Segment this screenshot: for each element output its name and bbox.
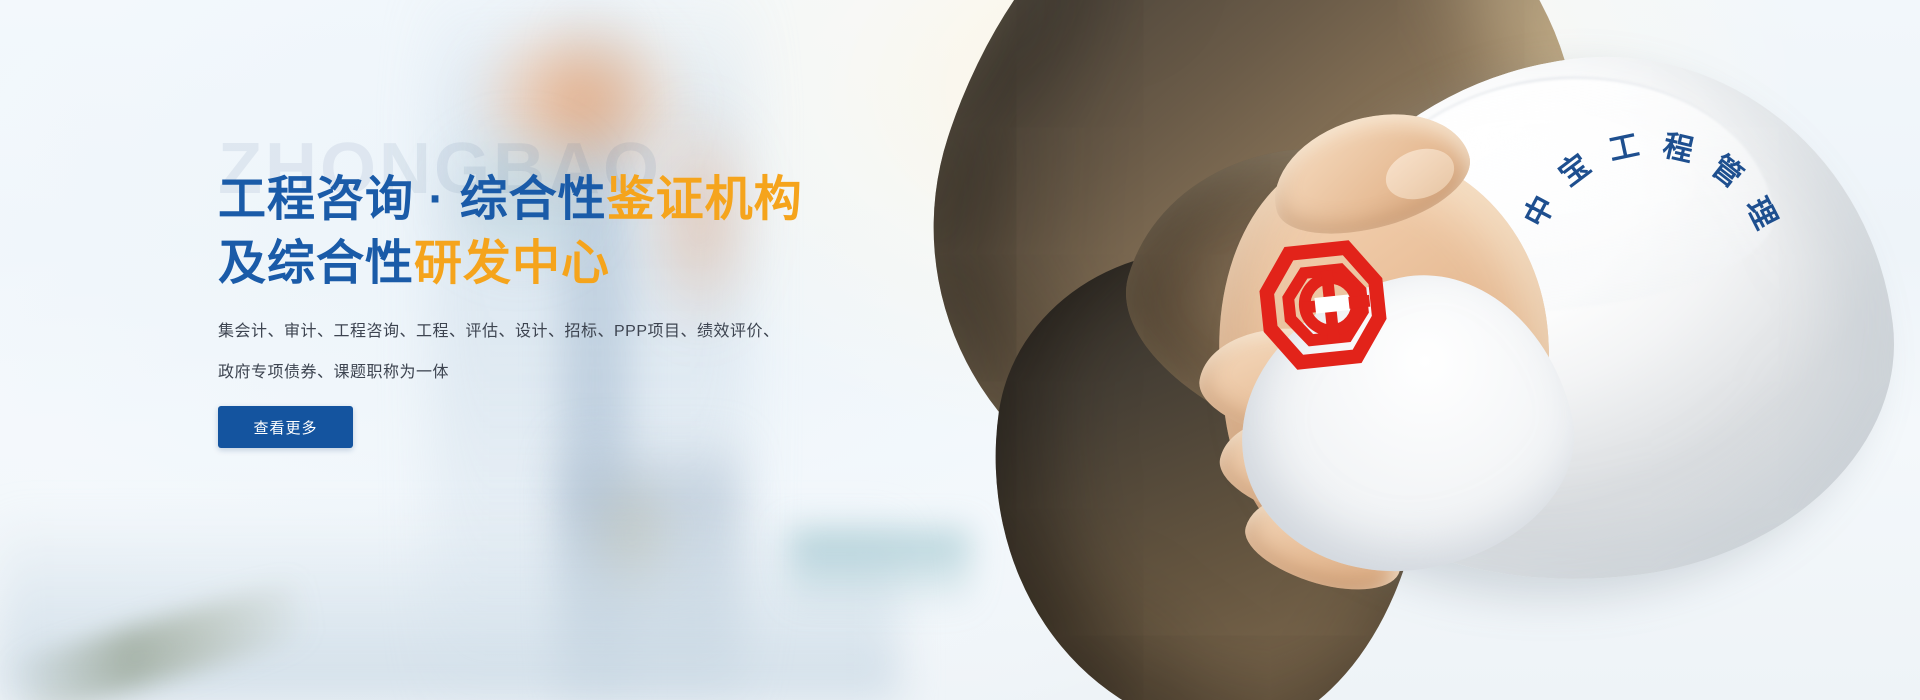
description-line-1: 集会计、审计、工程咨询、工程、评估、设计、招标、PPP项目、绩效评价、 [218, 312, 818, 353]
hero-banner: 中宝工程管理 ZHONGBAO 工程咨询 · 综合性鉴证机构 及综合性研发中心 … [0, 0, 1920, 700]
view-more-button[interactable]: 查看更多 [218, 406, 353, 448]
headline-line-2: 及综合性研发中心 [218, 232, 938, 296]
hero-description: 集会计、审计、工程咨询、工程、评估、设计、招标、PPP项目、绩效评价、 政府专项… [218, 312, 818, 394]
headline-line-1: 工程咨询 · 综合性鉴证机构 [218, 168, 938, 232]
hexagon-emblem-icon [1252, 234, 1395, 377]
helmet-logo-char: 中 [1511, 186, 1564, 233]
helmet-logo-char: 理 [1738, 189, 1791, 236]
hero-headline: 工程咨询 · 综合性鉴证机构 及综合性研发中心 [218, 168, 938, 296]
headline-line-2-blue: 及综合性 [218, 237, 414, 290]
helmet-logo-text: 中宝工程管理 [1463, 83, 1837, 457]
helmet-logo-char: 管 [1703, 143, 1754, 196]
description-line-2: 政府专项债券、课题职称为一体 [218, 353, 818, 394]
helmet-logo-char: 宝 [1548, 141, 1598, 194]
helmet-logo-char: 程 [1659, 120, 1698, 170]
helmet-logo-char: 工 [1604, 120, 1642, 169]
hero-content: ZHONGBAO 工程咨询 · 综合性鉴证机构 及综合性研发中心 集会计、审计、… [218, 0, 978, 700]
headline-line-2-orange: 研发中心 [414, 237, 610, 290]
headline-line-1-orange: 鉴证机构 [607, 173, 803, 226]
headline-line-1-blue: 工程咨询 · 综合性 [218, 173, 607, 226]
